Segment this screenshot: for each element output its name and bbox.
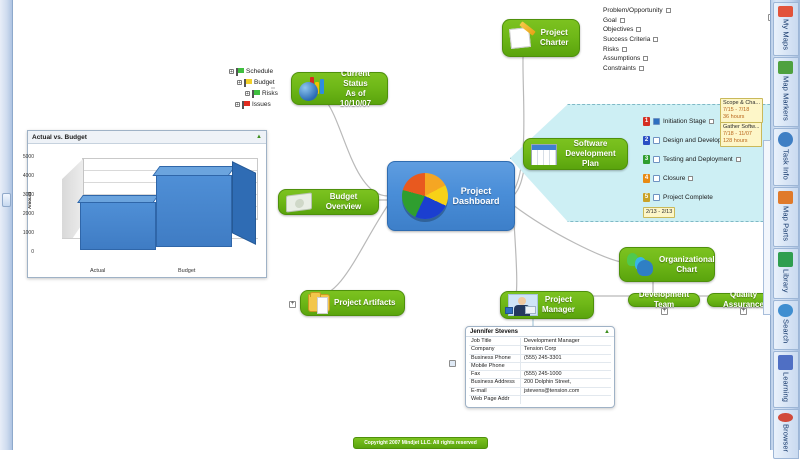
- flag-icon: [252, 90, 260, 98]
- contact-row: E-mail jstevens@tension.com: [469, 388, 611, 396]
- sdp-child-label: Closure: [663, 175, 685, 182]
- rail-tab-label: Map Markers: [781, 76, 791, 121]
- expand-icon[interactable]: +: [235, 102, 240, 107]
- collapse-icon[interactable]: ▲: [604, 329, 610, 335]
- chart-xtick-budget: Budget: [178, 268, 195, 274]
- contact-key: Web Page Addr: [469, 396, 521, 404]
- sdp-child-complete[interactable]: 5 Project Complete: [643, 188, 744, 207]
- node-label: Organizational Chart: [659, 255, 715, 275]
- expand-icon[interactable]: [622, 47, 627, 52]
- stage-number: 5: [643, 193, 650, 202]
- status-child-label: Risks: [262, 90, 278, 97]
- node-label: Project Manager: [542, 295, 575, 315]
- sdp-child-closure[interactable]: 4 Closure: [643, 169, 744, 188]
- money-icon: [286, 192, 312, 212]
- rail-tab-search[interactable]: Search: [773, 300, 799, 350]
- node-label: Development Team: [633, 290, 695, 310]
- charter-child[interactable]: Assumptions: [603, 54, 671, 64]
- rail-tab-library[interactable]: Library: [773, 248, 799, 299]
- expand-icon[interactable]: [639, 66, 644, 71]
- checkbox-icon[interactable]: [653, 175, 660, 182]
- folder-icon: [308, 294, 330, 312]
- people-icon: [627, 253, 655, 277]
- manager-icon: [508, 294, 538, 316]
- contact-row: Web Page Addr: [469, 396, 611, 404]
- charter-child[interactable]: Problem/Opportunity: [603, 6, 671, 16]
- callout-label: Scope & Cha...: [723, 100, 760, 107]
- node-software-development-plan[interactable]: Software Development Plan: [523, 138, 628, 170]
- stage-number: 2: [643, 136, 650, 145]
- rail-tab-label: Task Info: [781, 149, 791, 180]
- expand-icon[interactable]: [688, 176, 693, 181]
- node-current-status[interactable]: Current Status As of 10/10/07: [291, 72, 388, 105]
- callout-effort: 128 hours: [723, 138, 759, 145]
- rail-tab-map-markers[interactable]: Map Markers: [773, 57, 799, 127]
- task-info-icon: [778, 132, 793, 147]
- stage-number: 3: [643, 155, 650, 164]
- rail-tab-task-info[interactable]: Task Info: [773, 128, 799, 186]
- expand-icon[interactable]: [636, 27, 641, 32]
- contact-value: Tension Corp: [521, 346, 556, 353]
- flag-icon: [236, 68, 244, 76]
- sdp-child-label: Testing and Deployment: [663, 156, 733, 163]
- rail-tab-browser[interactable]: Browser: [773, 409, 799, 459]
- chart-3d-plot: [62, 158, 258, 258]
- node-project-manager[interactable]: Project Manager: [500, 291, 594, 319]
- contact-key: Business Address: [469, 379, 521, 386]
- rail-tab-label: Browser: [781, 424, 791, 452]
- node-organizational-chart[interactable]: Organizational Chart: [619, 247, 715, 282]
- chart-xtick-actual: Actual: [90, 268, 105, 274]
- status-child-budget[interactable]: + Budget: [237, 77, 278, 88]
- contact-value: [521, 396, 524, 404]
- charter-child[interactable]: Success Criteria: [603, 35, 671, 45]
- rail-tab-learning[interactable]: Learning: [773, 351, 799, 408]
- map-canvas[interactable]: + Schedule + Budget + Risks + Issues: [13, 0, 770, 450]
- node-label: Current Status As of 10/10/07: [331, 69, 380, 109]
- map-markers-icon: [778, 61, 793, 74]
- qa-expand-icon[interactable]: +: [740, 308, 747, 315]
- expand-icon[interactable]: +: [237, 80, 242, 85]
- current-status-children: + Schedule + Budget + Risks + Issues: [229, 66, 278, 110]
- expand-icon[interactable]: +: [245, 91, 250, 96]
- contact-row: Job Title Development Manager: [469, 338, 611, 346]
- contact-value: 200 Dolphin Street,: [521, 379, 571, 386]
- bar-actual[interactable]: [80, 202, 156, 250]
- node-label: Project Charter: [540, 28, 568, 48]
- sdp-child-testing[interactable]: 3 Testing and Deployment: [643, 150, 744, 169]
- rail-tab-label: Library: [781, 269, 791, 293]
- contact-value: Development Manager: [521, 338, 580, 345]
- node-label: Software Development Plan: [561, 139, 620, 169]
- callout-label: Gather Softw...: [723, 124, 759, 131]
- node-project-artifacts[interactable]: Project Artifacts: [300, 290, 405, 316]
- contact-name: Jennifer Stevens: [470, 329, 518, 335]
- contact-card-rows: Job Title Development Manager Company Te…: [466, 337, 614, 404]
- charter-child[interactable]: Goal: [603, 16, 671, 26]
- flag-icon: [244, 79, 252, 87]
- checkbox-icon[interactable]: [653, 156, 660, 163]
- node-label: Project Dashboard: [452, 186, 499, 206]
- contact-value: (555) 245-1000: [521, 371, 562, 378]
- stage-number: 4: [643, 174, 650, 183]
- node-copyright-banner[interactable]: Copyright 2007 Mindjet LLC. All rights r…: [353, 437, 488, 449]
- node-project-charter[interactable]: Project Charter: [502, 19, 580, 57]
- checkbox-icon[interactable]: [653, 137, 660, 144]
- rail-tab-label: Search: [781, 319, 791, 343]
- artifacts-expand-icon[interactable]: +: [289, 301, 296, 308]
- charter-child[interactable]: Constraints: [603, 64, 671, 74]
- contact-row: Mobile Phone: [469, 363, 611, 371]
- callout-dates: 7/18 - 11/07: [723, 131, 759, 138]
- sdp-callout-gather: Gather Softw... 7/18 - 11/07 128 hours: [720, 122, 762, 147]
- card-left-marker[interactable]: [449, 360, 456, 367]
- map-parts-icon: [778, 191, 793, 204]
- rail-tab-map-parts[interactable]: Map Parts: [773, 187, 799, 247]
- flag-icon: [242, 101, 250, 109]
- chart-title-bar: Actual vs. Budget ▲: [28, 131, 266, 144]
- contact-key: E-mail: [469, 388, 521, 395]
- rail-tab-label: Learning: [781, 372, 791, 402]
- charter-pencil-icon: [510, 27, 536, 49]
- contact-card[interactable]: Jennifer Stevens ▲ Job Title Development…: [465, 326, 615, 408]
- node-budget-overview[interactable]: Budget Overview: [278, 189, 379, 215]
- sdp-child-label: Project Complete: [663, 194, 713, 201]
- right-panel-rail: My Maps Map Markers Task Info Map Parts …: [770, 0, 800, 450]
- pie-chart-icon: [402, 173, 448, 219]
- spreadsheet-icon: [531, 144, 557, 165]
- charter-child[interactable]: Objectives: [603, 25, 671, 35]
- node-development-team[interactable]: Development Team: [628, 293, 700, 307]
- callout-effort: 36 hours: [723, 114, 760, 121]
- learning-icon: [778, 355, 793, 370]
- chart-window-actual-vs-budget[interactable]: Actual vs. Budget ▲ Amount 5000 4000 300…: [27, 130, 267, 278]
- rail-tab-label: Map Parts: [781, 206, 791, 241]
- status-globe-icon: [299, 77, 327, 101]
- browser-icon: [778, 413, 793, 423]
- dev-team-expand-icon[interactable]: +: [661, 308, 668, 315]
- charter-children: Problem/Opportunity Goal Objectives Succ…: [603, 6, 671, 73]
- contact-row: Company Tension Corp: [469, 346, 611, 354]
- node-project-dashboard[interactable]: Project Dashboard: [387, 161, 515, 231]
- expand-icon[interactable]: [666, 8, 671, 13]
- contact-key: Company: [469, 346, 521, 353]
- rail-tab-my-maps[interactable]: My Maps: [773, 2, 799, 56]
- node-label: Project Artifacts: [334, 298, 396, 308]
- callout-dates: 7/15 - 7/18: [723, 107, 760, 114]
- contact-value: (555) 245-3301: [521, 355, 562, 362]
- sdp-footer-callout: 2/13 - 2/13: [643, 207, 675, 218]
- my-maps-icon: [778, 6, 793, 17]
- canvas-scrollbar[interactable]: [763, 140, 771, 315]
- status-child-risks[interactable]: + Risks: [245, 88, 278, 99]
- stage-number: 1: [643, 117, 650, 126]
- chart-plot-area: Amount 5000 4000 3000 2000 1000 0: [28, 144, 266, 278]
- contact-value: [521, 363, 524, 370]
- chart-title: Actual vs. Budget: [32, 134, 87, 141]
- expand-icon[interactable]: +: [229, 69, 234, 74]
- rail-tab-label: My Maps: [781, 19, 791, 50]
- status-child-schedule[interactable]: + Schedule: [229, 66, 278, 77]
- search-icon: [778, 304, 793, 318]
- contact-row: Business Address 200 Dolphin Street,: [469, 379, 611, 387]
- status-child-issues[interactable]: + Issues: [235, 99, 278, 110]
- library-icon: [778, 252, 793, 267]
- collapse-icon[interactable]: ▲: [256, 134, 262, 140]
- expand-icon[interactable]: [653, 37, 658, 42]
- contact-row: Business Phone (555) 245-3301: [469, 355, 611, 363]
- node-label: Budget Overview: [316, 192, 371, 212]
- expand-icon[interactable]: [620, 18, 625, 23]
- left-panel-rail: [0, 0, 13, 450]
- sdp-callout-scope: Scope & Cha... 7/15 - 7/18 36 hours: [720, 98, 763, 123]
- status-child-label: Schedule: [246, 68, 273, 75]
- contact-card-header: Jennifer Stevens ▲: [466, 327, 614, 337]
- expand-icon[interactable]: [709, 119, 714, 124]
- bar-budget[interactable]: [156, 175, 232, 247]
- checkbox-icon[interactable]: [653, 118, 660, 125]
- contact-key: Mobile Phone: [469, 363, 521, 370]
- status-child-label: Budget: [254, 79, 275, 86]
- checkbox-icon[interactable]: [653, 194, 660, 201]
- sdp-child-label: Initiation Stage: [663, 118, 706, 125]
- expand-icon[interactable]: [736, 157, 741, 162]
- mindmap-application: + Schedule + Budget + Risks + Issues: [0, 0, 800, 450]
- left-panel-toggle[interactable]: [2, 193, 11, 207]
- contact-key: Job Title: [469, 338, 521, 345]
- contact-row: Fax (555) 245-1000: [469, 371, 611, 379]
- status-child-label: Issues: [252, 101, 271, 108]
- contact-key: Business Phone: [469, 355, 521, 362]
- charter-child[interactable]: Risks: [603, 44, 671, 54]
- contact-value: jstevens@tension.com: [521, 388, 579, 395]
- contact-key: Fax: [469, 371, 521, 378]
- expand-icon[interactable]: [643, 56, 648, 61]
